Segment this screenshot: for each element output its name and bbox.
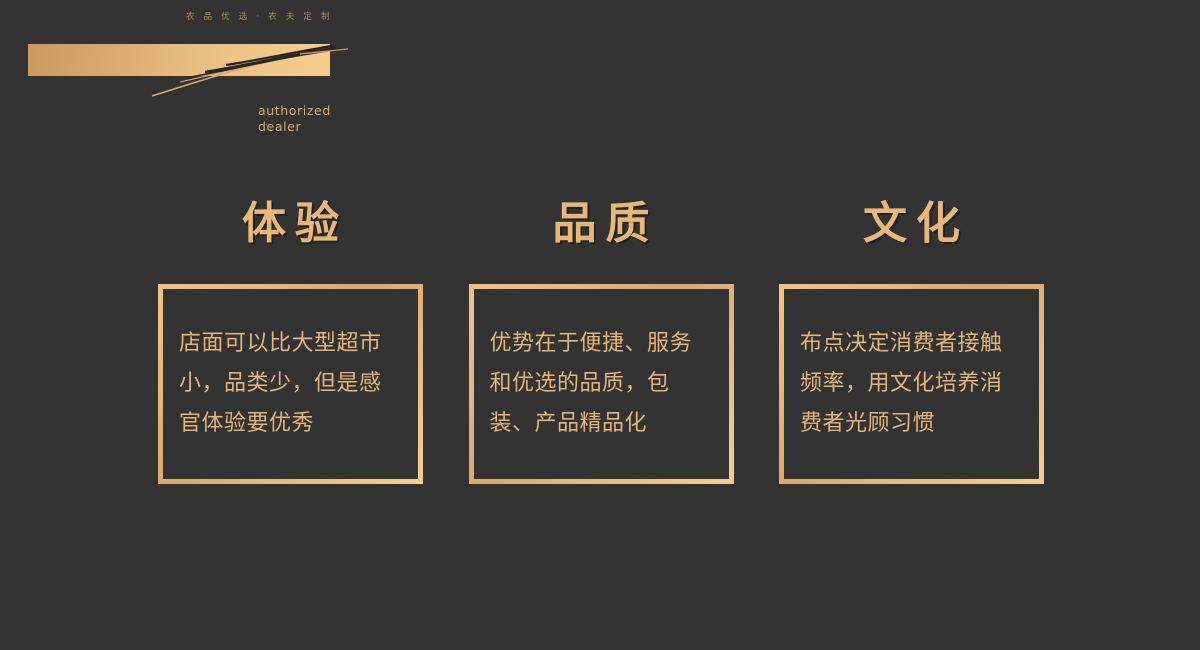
- pillar-box-culture: 布点决定消费者接触频率，用文化培养消费者光顾习惯: [779, 284, 1044, 484]
- brand-tagline: 农 品 优 选 · 农 夫 定 制: [186, 10, 333, 22]
- brand-lockup: 农 品 优 选 · 农 夫 定 制 authorized dealer: [0, 0, 380, 150]
- pillar-column-culture: 文化 布点决定消费者接触频率，用文化培养消费者光顾习惯: [779, 195, 1044, 484]
- pillar-column-experience: 体验 店面可以比大型超市小，品类少，但是感官体验要优秀: [158, 195, 423, 484]
- pillar-box-experience: 店面可以比大型超市小，品类少，但是感官体验要优秀: [158, 284, 423, 484]
- pillar-box-quality: 优势在于便捷、服务和优选的品质，包装、产品精品化: [469, 284, 734, 484]
- pillar-body-quality: 优势在于便捷、服务和优选的品质，包装、产品精品化: [490, 324, 713, 444]
- pillar-heading-culture: 文化: [779, 195, 1044, 253]
- pillar-heading-quality: 品质: [469, 195, 734, 253]
- pillar-columns: 体验 店面可以比大型超市小，品类少，但是感官体验要优秀 品质 优势在于便捷、服务…: [158, 195, 1044, 484]
- pillar-body-experience: 店面可以比大型超市小，品类少，但是感官体验要优秀: [179, 324, 402, 444]
- pillar-column-quality: 品质 优势在于便捷、服务和优选的品质，包装、产品精品化: [469, 195, 734, 484]
- brand-subtitle-line1: authorized: [258, 103, 331, 119]
- brand-subtitle-line2: dealer: [258, 119, 331, 135]
- pillar-body-culture: 布点决定消费者接触频率，用文化培养消费者光顾习惯: [800, 324, 1023, 444]
- brand-subtitle: authorized dealer: [258, 103, 331, 135]
- slide-root: 农 品 优 选 · 农 夫 定 制 authorized dealer 体验 店…: [0, 0, 1200, 650]
- pillar-heading-experience: 体验: [158, 195, 423, 253]
- brand-gold-bar: [28, 44, 330, 76]
